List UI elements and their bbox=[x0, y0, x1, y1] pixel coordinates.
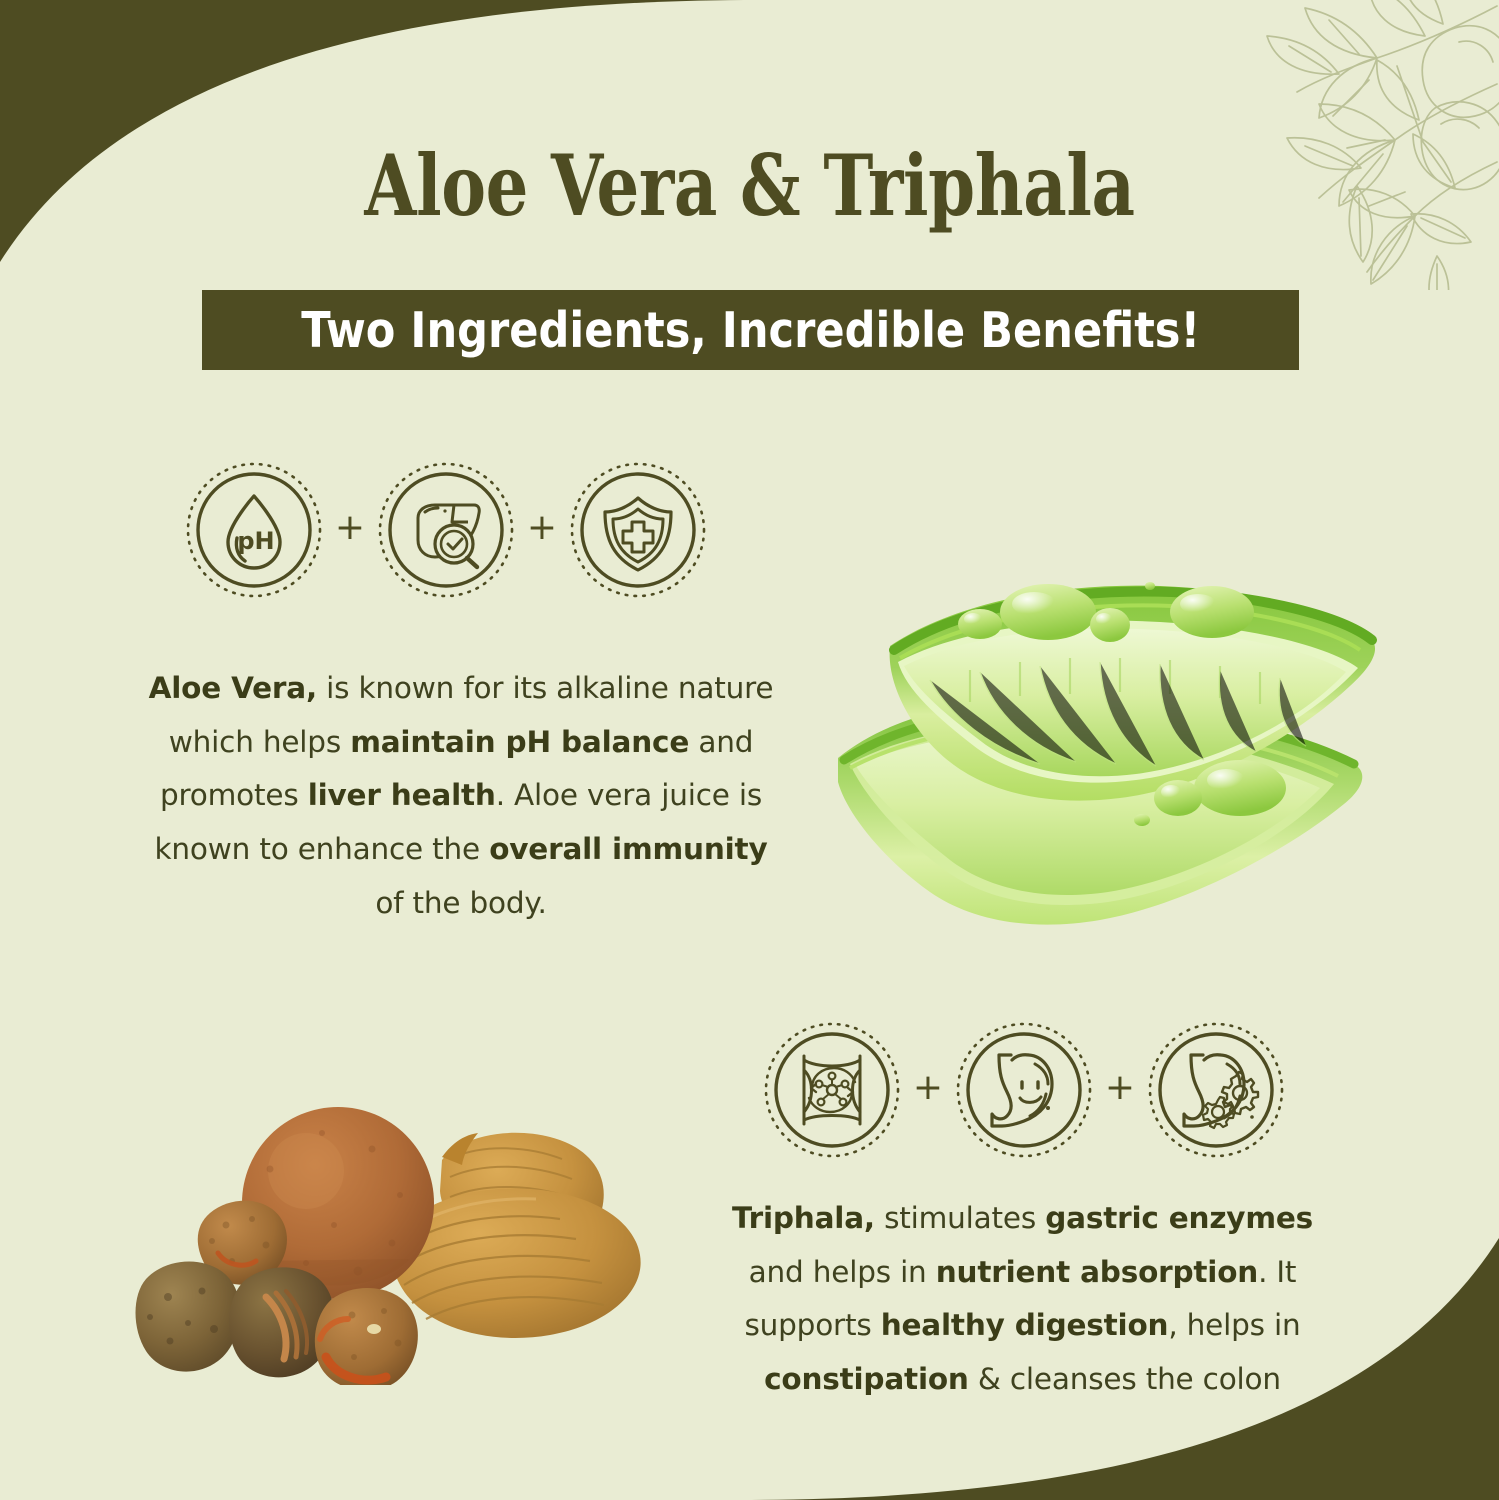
plus-separator-1: + bbox=[322, 510, 378, 550]
torso-molecule-icon bbox=[764, 1022, 900, 1158]
subtitle-text: Two Ingredients, Incredible Benefits! bbox=[301, 302, 1200, 359]
aloe-para-bold-4: overall immunity bbox=[489, 832, 767, 866]
triphala-para-bold-3: nutrient absorption bbox=[936, 1255, 1258, 1289]
svg-text:pH: pH bbox=[237, 527, 274, 555]
plus-separator-2: + bbox=[514, 510, 570, 550]
aloe-para-bold-2: maintain pH balance bbox=[350, 725, 689, 759]
shield-cross-icon bbox=[570, 462, 706, 598]
page-title: Aloe Vera & Triphala bbox=[150, 142, 1349, 230]
triphala-dried-fruits-photo bbox=[110, 1085, 675, 1385]
subtitle-banner: Two Ingredients, Incredible Benefits! bbox=[202, 290, 1299, 370]
triphala-para-bold-4: healthy digestion bbox=[881, 1308, 1169, 1342]
triphala-icon-row: + + bbox=[764, 1022, 1284, 1158]
plus-separator-4: + bbox=[1092, 1070, 1148, 1110]
aloe-paragraph: Aloe Vera, is known for its alkaline nat… bbox=[148, 662, 774, 930]
aloe-vera-leaf-slices-photo bbox=[820, 520, 1380, 945]
triphala-para-bold-2: gastric enzymes bbox=[1045, 1201, 1313, 1235]
aloe-para-bold-1: Aloe Vera, bbox=[149, 671, 317, 705]
triphala-para-text-4: , helps in bbox=[1168, 1308, 1300, 1342]
happy-stomach-icon bbox=[956, 1022, 1092, 1158]
aloe-icon-row: pH + + bbox=[186, 462, 706, 598]
stomach-gears-icon bbox=[1148, 1022, 1284, 1158]
liver-magnifier-check-icon bbox=[378, 462, 514, 598]
triphala-para-text-2: and helps in bbox=[749, 1255, 936, 1289]
triphala-para-text-1: stimulates bbox=[875, 1201, 1045, 1235]
triphala-para-text-5: & cleanses the colon bbox=[969, 1362, 1281, 1396]
aloe-para-bold-3: liver health bbox=[308, 778, 496, 812]
triphala-para-bold-5: constipation bbox=[764, 1362, 969, 1396]
ph-drop-icon: pH bbox=[186, 462, 322, 598]
aloe-para-text-4: of the body. bbox=[375, 886, 546, 920]
triphala-para-bold-1: Triphala, bbox=[732, 1201, 875, 1235]
triphala-paragraph: Triphala, stimulates gastric enzymes and… bbox=[700, 1192, 1345, 1407]
plus-separator-3: + bbox=[900, 1070, 956, 1110]
poster-root: Aloe Vera & Triphala Two Ingredients, In… bbox=[0, 0, 1499, 1500]
